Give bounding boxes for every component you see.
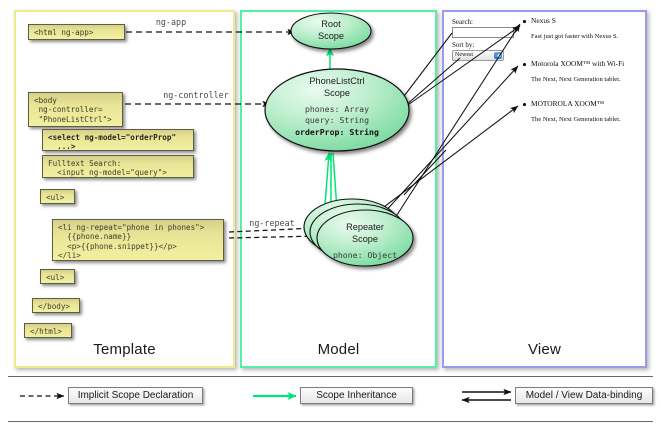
html-close-box: </html>: [24, 323, 72, 338]
html-ng-app-box: <html ng-app>: [28, 24, 125, 40]
chevron-updown-icon: [494, 52, 502, 59]
view-sort-select-value: Newest: [455, 52, 473, 58]
list-item-title: Motorola XOOM™ with Wi-Fi: [531, 59, 624, 68]
legend-scope-inheritance: Scope Inheritance: [300, 387, 413, 404]
panel-label-model: Model: [240, 341, 437, 358]
view-sort-label: Sort by:: [452, 41, 474, 49]
list-bullet: [523, 20, 526, 23]
view-search-label: Search:: [452, 18, 473, 26]
legend-divider-top: [8, 376, 653, 377]
panel-label-view: View: [442, 341, 647, 358]
view-search-input[interactable]: [452, 27, 514, 38]
list-item-snippet: The Next, Next Generation tablet.: [531, 76, 621, 83]
panel-label-template: Template: [14, 341, 235, 358]
li-ng-repeat-box: <li ng-repeat="phone in phones"> {{phone…: [52, 219, 224, 261]
list-bullet: [523, 103, 526, 106]
fulltext-search-box: Fulltext Search: <input ng-model="query"…: [42, 155, 194, 178]
list-item-snippet: Fast just got faster with Nexus S.: [531, 33, 618, 40]
list-item-title: Nexus S: [531, 16, 556, 25]
ul-open-box: <ul>: [40, 189, 75, 204]
select-ng-model-box: <select ng-model="orderProp" ...>: [42, 129, 194, 151]
diagram-stage: Template Model View <html ng-app> <body …: [0, 0, 661, 425]
panel-model: [240, 10, 437, 368]
legend-implicit-scope-declaration: Implicit Scope Declaration: [68, 387, 203, 404]
body-ng-controller-box: <body ng-controller= "PhoneListCtrl">: [28, 92, 123, 127]
ul-close-box: <ul>: [40, 269, 75, 284]
list-item-title: MOTOROLA XOOM™: [531, 99, 604, 108]
list-item-snippet: The Next, Next Generation tablet.: [531, 116, 621, 123]
legend-divider-bottom: [8, 421, 653, 422]
legend-model-view-data-binding: Model / View Data-binding: [515, 387, 653, 404]
body-close-box: </body>: [32, 298, 80, 313]
list-bullet: [523, 63, 526, 66]
view-sort-select[interactable]: Newest: [452, 50, 504, 61]
